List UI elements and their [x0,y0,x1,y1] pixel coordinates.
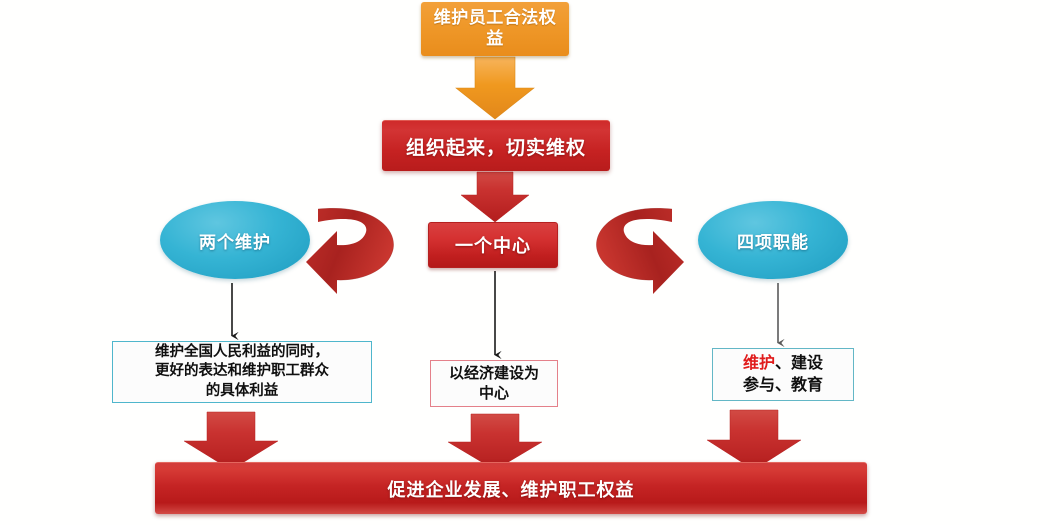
node-center-detail-line2: 中心 [449,384,539,404]
node-left-detail-line2: 更好的表达和维护职工群众 [155,362,329,382]
node-top-goal[interactable]: 维护员工合法权益 [421,2,569,56]
node-left-detail-line3: 的具体利益 [155,382,329,402]
node-four-functions[interactable]: 四项职能 [698,201,848,279]
node-right-detail[interactable]: 维护、建设 参与、教育 [712,348,854,401]
node-bottom-outcome-label: 促进企业发展、维护职工权益 [388,476,635,502]
node-left-detail-text: 维护全国人民利益的同时， 更好的表达和维护职工群众 的具体利益 [151,343,333,402]
curved-arrow-center-to-left [306,208,394,294]
node-slogan[interactable]: 组织起来，切实维权 [382,120,610,171]
node-four-functions-label: 四项职能 [737,228,809,253]
node-slogan-label: 组织起来，切实维权 [406,133,586,160]
node-one-center-label: 一个中心 [455,232,531,258]
node-right-detail-line2: 参与、教育 [743,375,823,396]
red-down-arrow-slogan-to-center [461,172,529,222]
node-right-detail-line1: 维护、建设 [743,353,823,374]
node-center-detail-line1: 以经济建设为 [449,364,539,384]
node-bottom-outcome[interactable]: 促进企业发展、维护职工权益 [155,462,867,514]
node-center-detail[interactable]: 以经济建设为 中心 [430,360,558,407]
node-right-detail-rest: 、建设 [775,355,823,372]
node-two-safeguards-label: 两个维护 [199,228,271,253]
orange-down-arrow-top-to-slogan [456,57,534,119]
node-right-detail-highlight: 维护 [743,355,775,372]
node-left-detail[interactable]: 维护全国人民利益的同时， 更好的表达和维护职工群众 的具体利益 [112,341,372,403]
node-one-center[interactable]: 一个中心 [428,222,558,268]
node-center-detail-text: 以经济建设为 中心 [449,364,539,403]
node-left-detail-line1: 维护全国人民利益的同时， [155,343,329,363]
node-right-detail-text: 维护、建设 参与、教育 [743,353,823,395]
node-two-safeguards[interactable]: 两个维护 [160,201,310,279]
diagram-canvas: 维护员工合法权益 组织起来，切实维权 两个维护 一个中心 四项职能 维护全国人民… [0,0,1050,525]
curved-arrow-center-to-right [596,208,684,294]
red-down-arrow-right-detail-to-bottom [707,410,801,470]
node-top-goal-label: 维护员工合法权益 [421,8,569,49]
